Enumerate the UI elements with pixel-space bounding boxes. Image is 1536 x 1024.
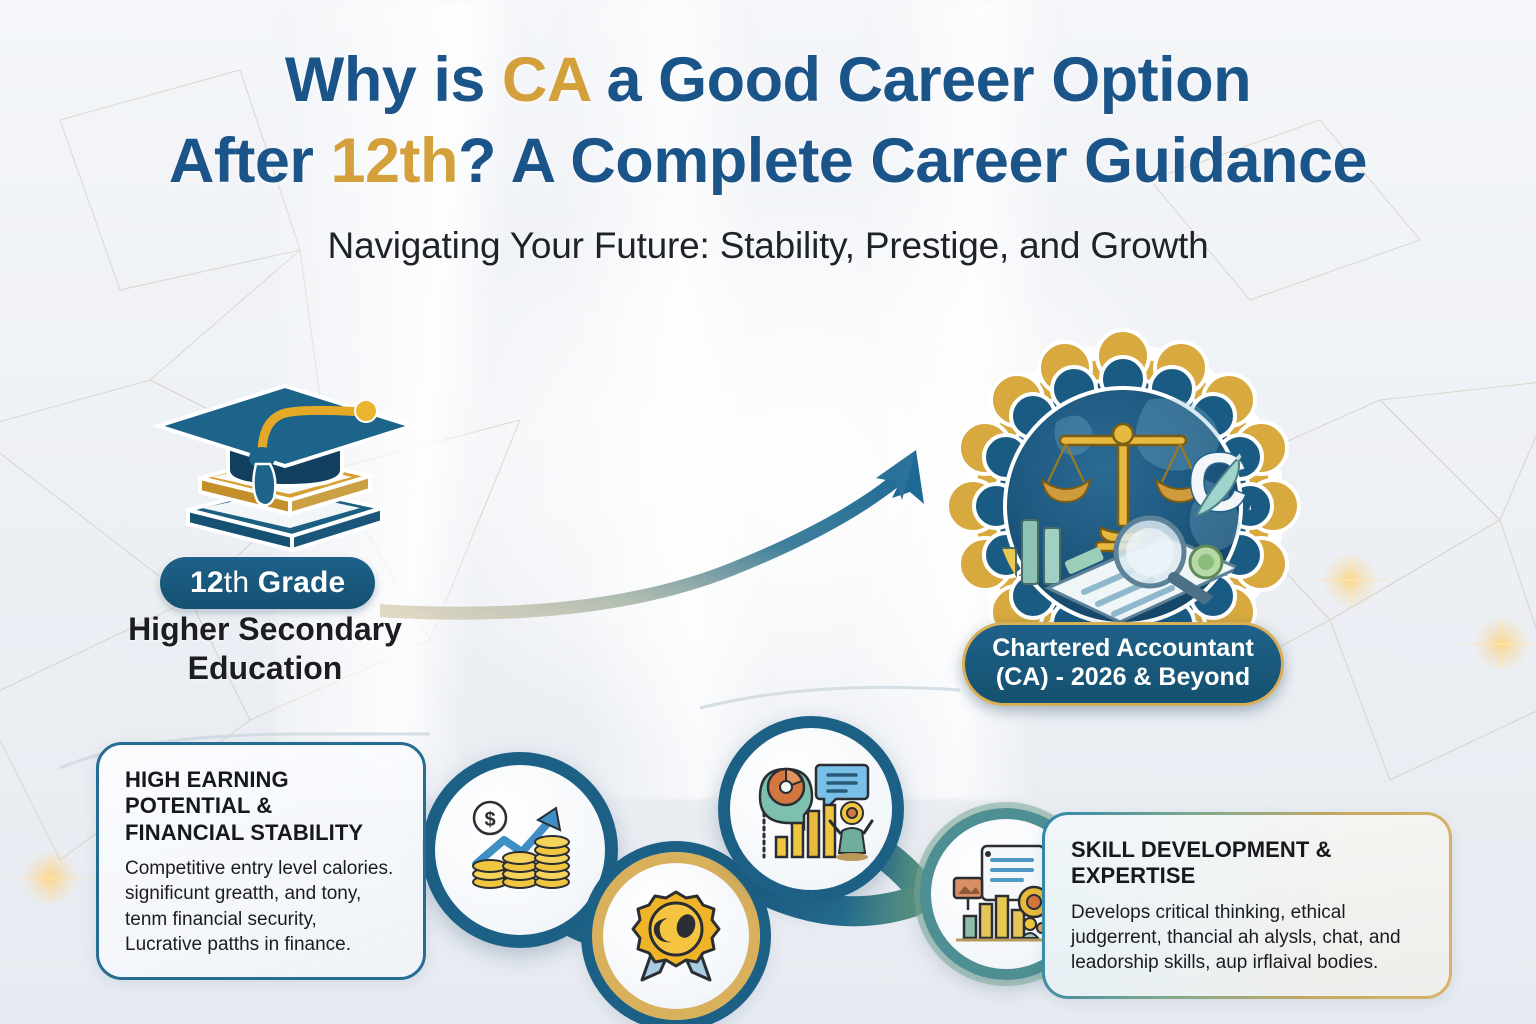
node-prestige-recognition[interactable] [592, 852, 760, 1020]
svg-text:$: $ [484, 809, 495, 831]
grade-number: 12 [190, 566, 224, 599]
gold-award-medal-icon [624, 884, 728, 988]
grade-suffix: th [224, 566, 249, 599]
page-title-line-1: Why is CA a Good Career Option [0, 40, 1536, 121]
infographic-canvas: Why is CA a Good Career Option After 12t… [0, 0, 1536, 1024]
page-title-line-2: After 12th? A Complete Career Guidance [0, 121, 1536, 202]
card-body: Competitive entry level calories. signif… [125, 856, 397, 957]
goal-label-line-1: Chartered Accountant [973, 634, 1273, 663]
goal-stage-label: Chartered Accountant (CA) - 2026 & Beyon… [962, 622, 1284, 706]
education-label-line-1: Higher Secondary [100, 610, 430, 649]
money-growth-coins-icon: $ [460, 790, 580, 910]
node-career-opportunities[interactable] [718, 716, 904, 902]
goal-label-line-2: (CA) - 2026 & Beyond [973, 663, 1273, 692]
network-glow-node [1470, 612, 1534, 676]
network-glow-node [18, 846, 82, 910]
upward-growth-arrow-icon [380, 420, 960, 690]
page-subtitle: Navigating Your Future: Stability, Prest… [0, 225, 1536, 267]
education-label-line-2: Education [100, 649, 430, 688]
title-accent-12th: 12th [330, 126, 458, 196]
node-earning-potential[interactable]: $ [422, 752, 618, 948]
card-title: SKILL DEVELOPMENT & EXPERTISE [1071, 837, 1423, 890]
title-text-part: a Good Career Option [590, 45, 1252, 115]
card-title: HIGH EARNING POTENTIAL & FINANCIAL STABI… [125, 767, 397, 846]
graduation-cap-books-icon [150, 378, 420, 558]
education-stage-label: Higher Secondary Education [100, 610, 430, 688]
network-glow-node [1318, 548, 1382, 612]
title-text-part: ? A Complete Career Guidance [458, 126, 1367, 196]
feature-card-skill-development: SKILL DEVELOPMENT & EXPERTISE Develops c… [1042, 812, 1452, 999]
feature-card-earning-potential: HIGH EARNING POTENTIAL & FINANCIAL STABI… [96, 742, 426, 980]
grade-badge: 12th Grade [160, 557, 375, 609]
header: Why is CA a Good Career Option After 12t… [0, 40, 1536, 267]
title-text-part: Why is [285, 45, 502, 115]
title-text-part: After [169, 126, 331, 196]
title-accent-ca: CA [502, 45, 590, 115]
analytics-communication-icon [750, 751, 872, 867]
grade-word: Grade [249, 566, 345, 599]
card-body: Develops critical thinking, ethical judg… [1071, 900, 1423, 976]
